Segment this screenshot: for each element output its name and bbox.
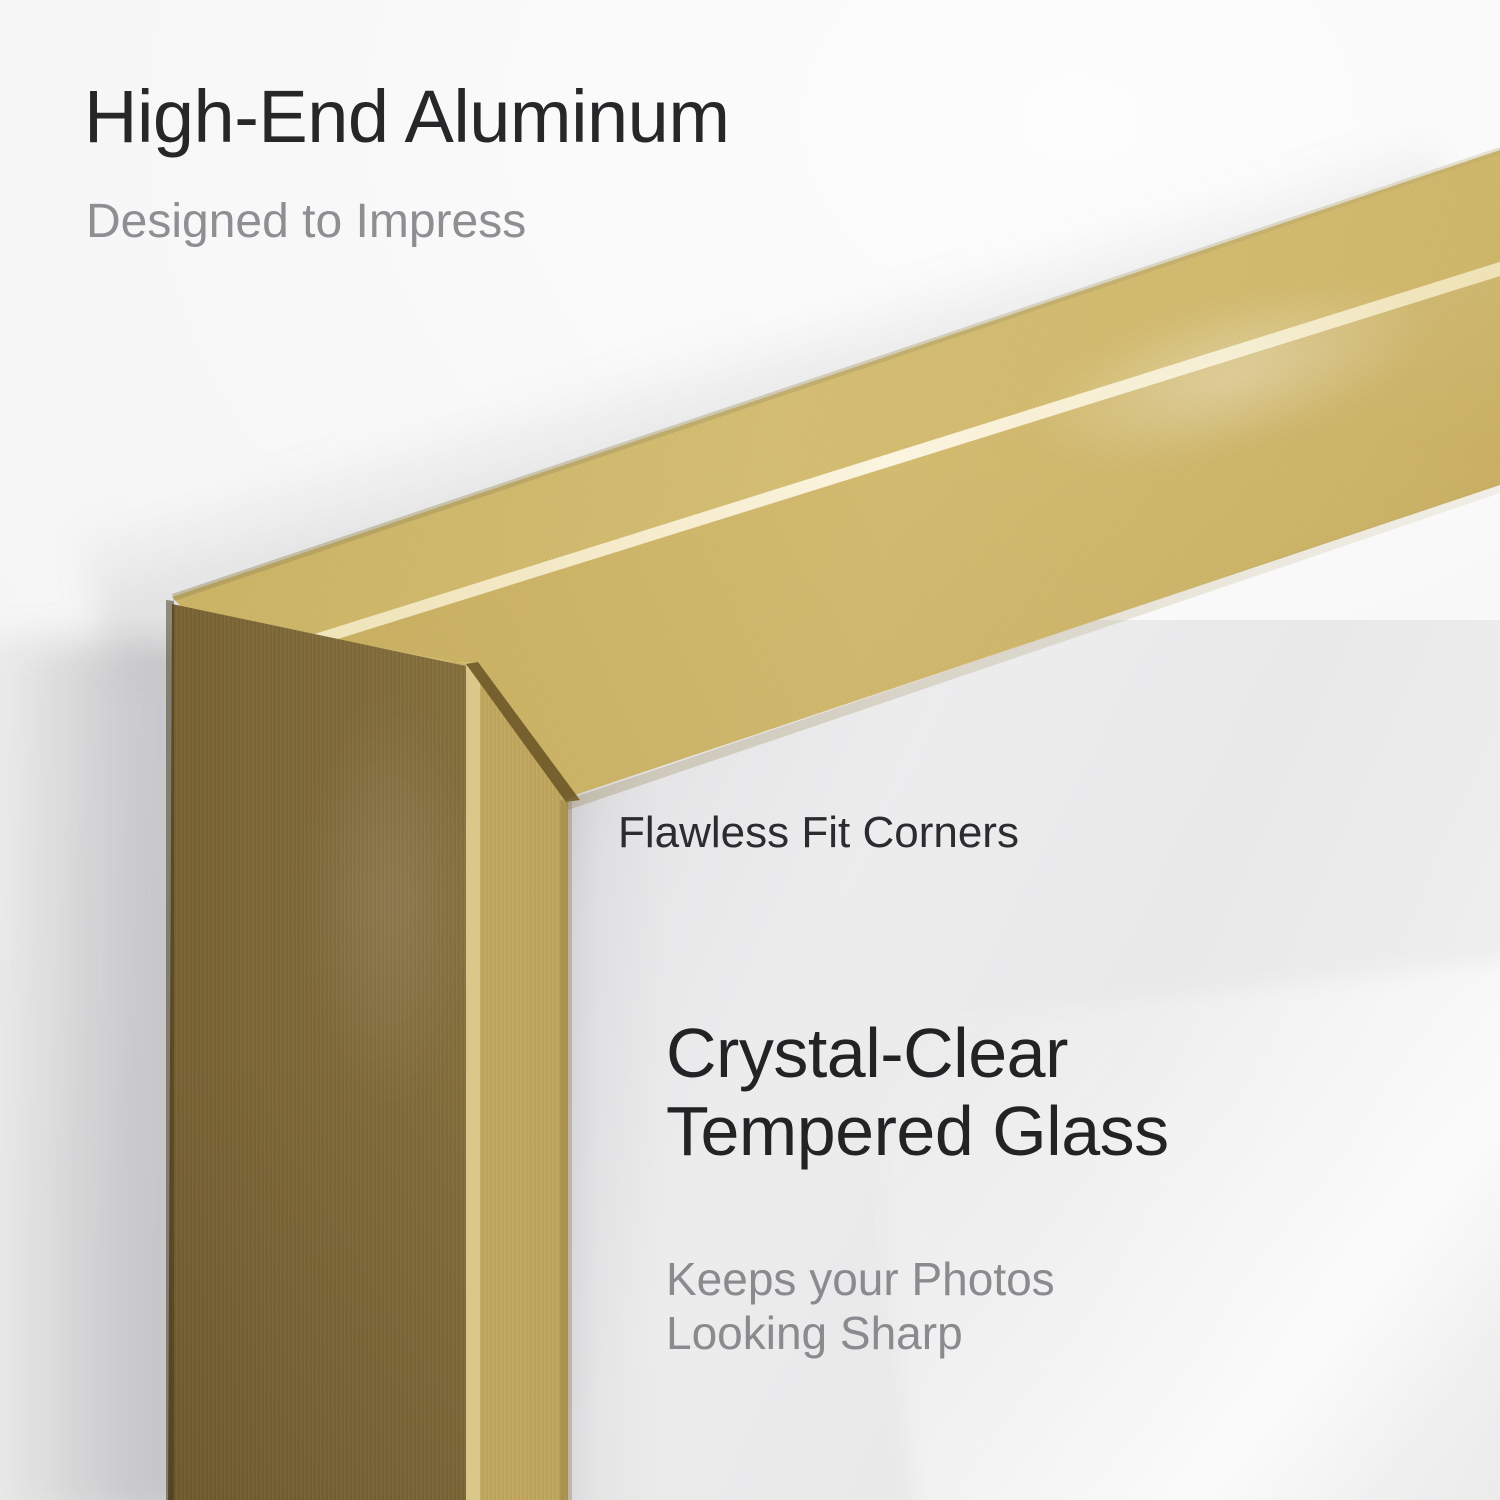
callout-keeps-photos-sharp: Keeps your Photos Looking Sharp	[666, 1252, 1055, 1361]
callout-tempered-glass: Crystal-Clear Tempered Glass	[666, 1014, 1169, 1171]
callout-tempered-glass-line-2: Tempered Glass	[666, 1092, 1169, 1170]
callout-keeps-photos-sharp-line-2: Looking Sharp	[666, 1306, 1055, 1360]
page-subtitle: Designed to Impress	[86, 196, 526, 249]
callout-flawless-fit-corners: Flawless Fit Corners	[618, 808, 1019, 858]
product-feature-image: High-End Aluminum Designed to Impress Fl…	[0, 0, 1500, 1500]
callout-tempered-glass-line-1: Crystal-Clear	[666, 1014, 1169, 1092]
frame-specular-glint-left	[300, 690, 480, 1110]
callout-keeps-photos-sharp-line-1: Keeps your Photos	[666, 1252, 1055, 1306]
page-title: High-End Aluminum	[84, 78, 729, 156]
